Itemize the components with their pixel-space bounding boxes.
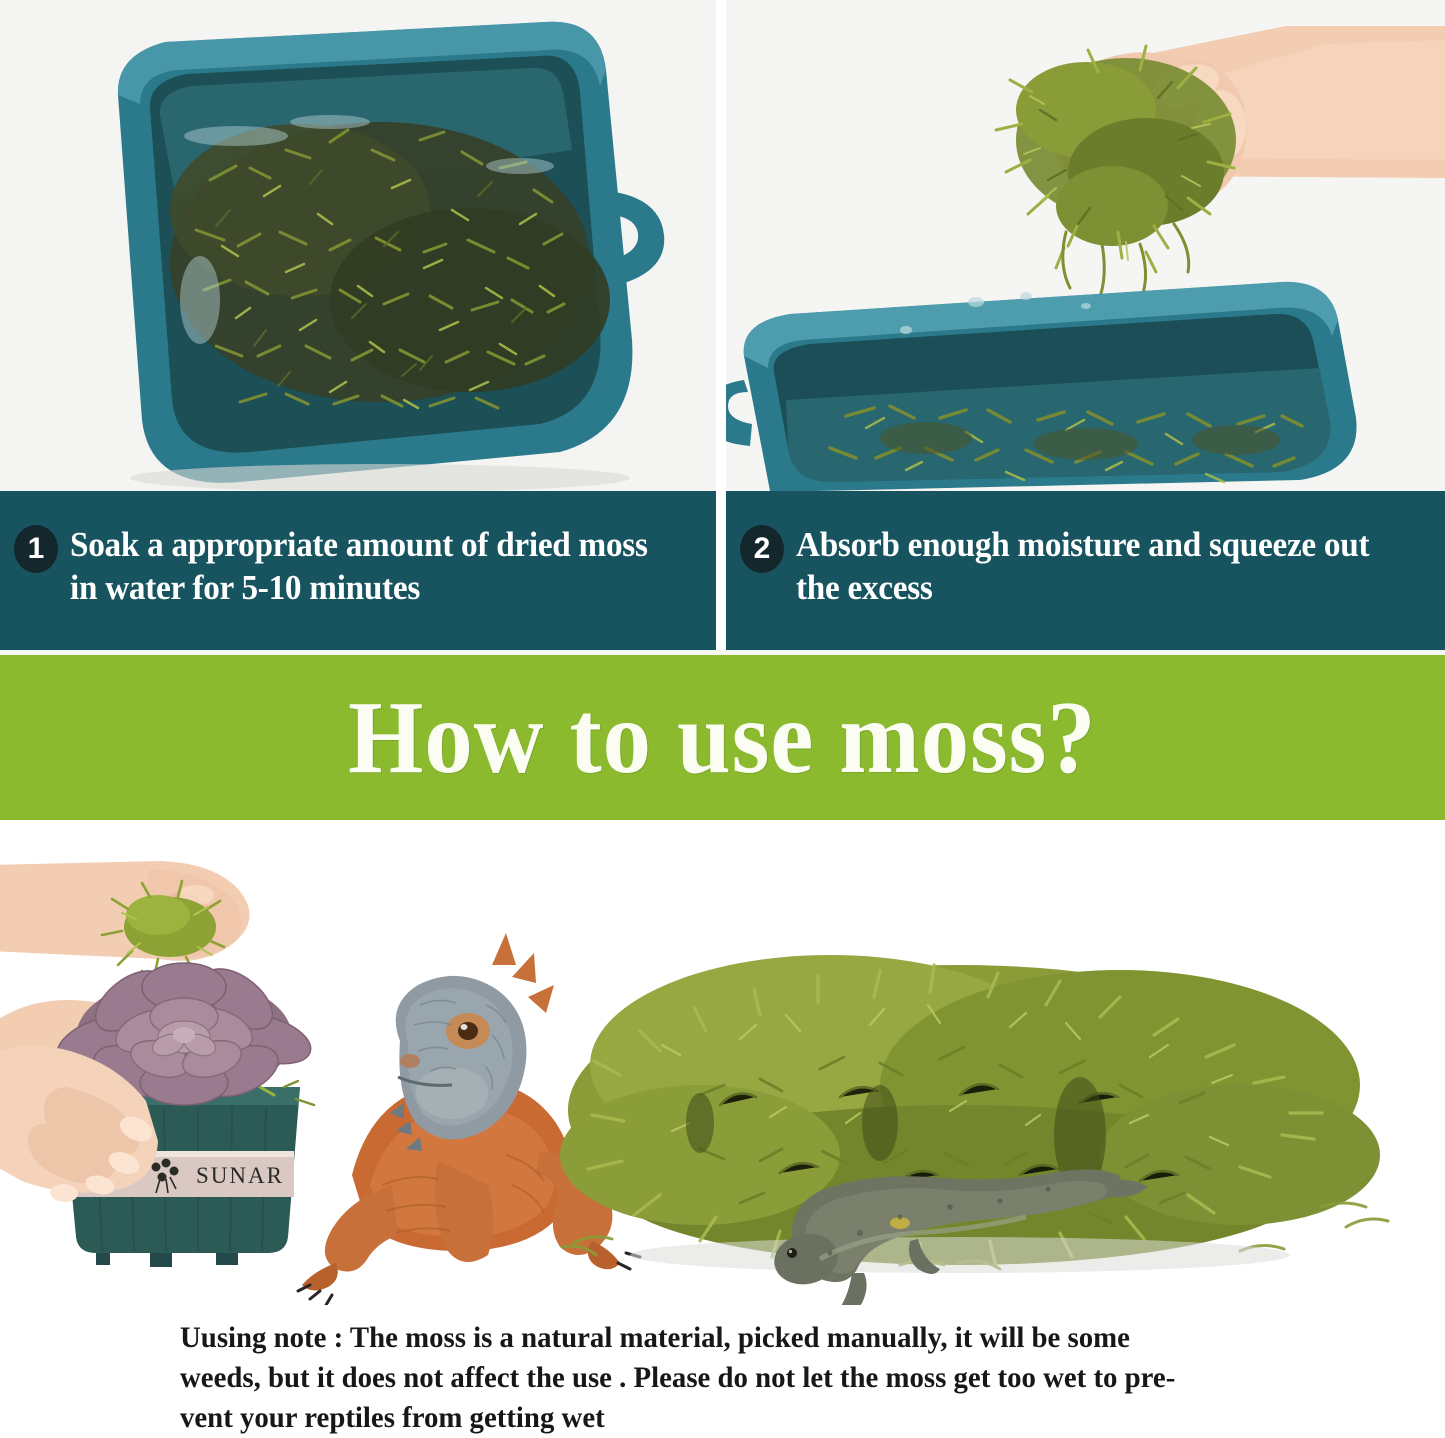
top-photo-row: 1 Soak a appropriate amount of dried mos…: [0, 0, 1445, 650]
pot-label-right: SUNAR: [196, 1163, 284, 1188]
potting-scene-illustration: D SUNAR: [0, 855, 1445, 1305]
note-line-3: vent your reptiles from getting wet: [180, 1398, 1255, 1438]
step-2-panel: 2 Absorb enough moisture and squeeze out…: [726, 0, 1445, 650]
step-number-badge-2: 2: [740, 525, 784, 573]
step-2-photo: [726, 0, 1445, 491]
step-3-photo-collage: D SUNAR: [0, 855, 1445, 1305]
squeezing-moss-illustration: [726, 0, 1445, 491]
usage-note: Uusing note : The moss is a natural mate…: [180, 1318, 1255, 1438]
step-2-caption: 2 Absorb enough moisture and squeeze out…: [726, 491, 1445, 650]
how-to-use-banner: How to use moss?: [0, 655, 1445, 820]
step-1-text: Soak a appropriate amount of dried moss …: [70, 523, 670, 609]
panel-divider: [716, 0, 726, 650]
basin-below: [726, 282, 1357, 491]
soaking-basin-illustration: [0, 0, 716, 491]
note-line-1: Uusing note : The moss is a natural mate…: [180, 1318, 1255, 1358]
infographic-page: 1 Soak a appropriate amount of dried mos…: [0, 0, 1445, 1423]
step-2-text: Absorb enough moisture and squeeze out t…: [796, 523, 1399, 609]
step-1-caption: 1 Soak a appropriate amount of dried mos…: [0, 491, 716, 650]
step-number-badge-1: 1: [14, 525, 58, 573]
note-line-2: weeds, but it does not affect the use . …: [180, 1358, 1255, 1398]
step-1-photo: [0, 0, 716, 491]
banner-title: How to use moss?: [348, 678, 1096, 797]
step-1-panel: 1 Soak a appropriate amount of dried mos…: [0, 0, 716, 650]
